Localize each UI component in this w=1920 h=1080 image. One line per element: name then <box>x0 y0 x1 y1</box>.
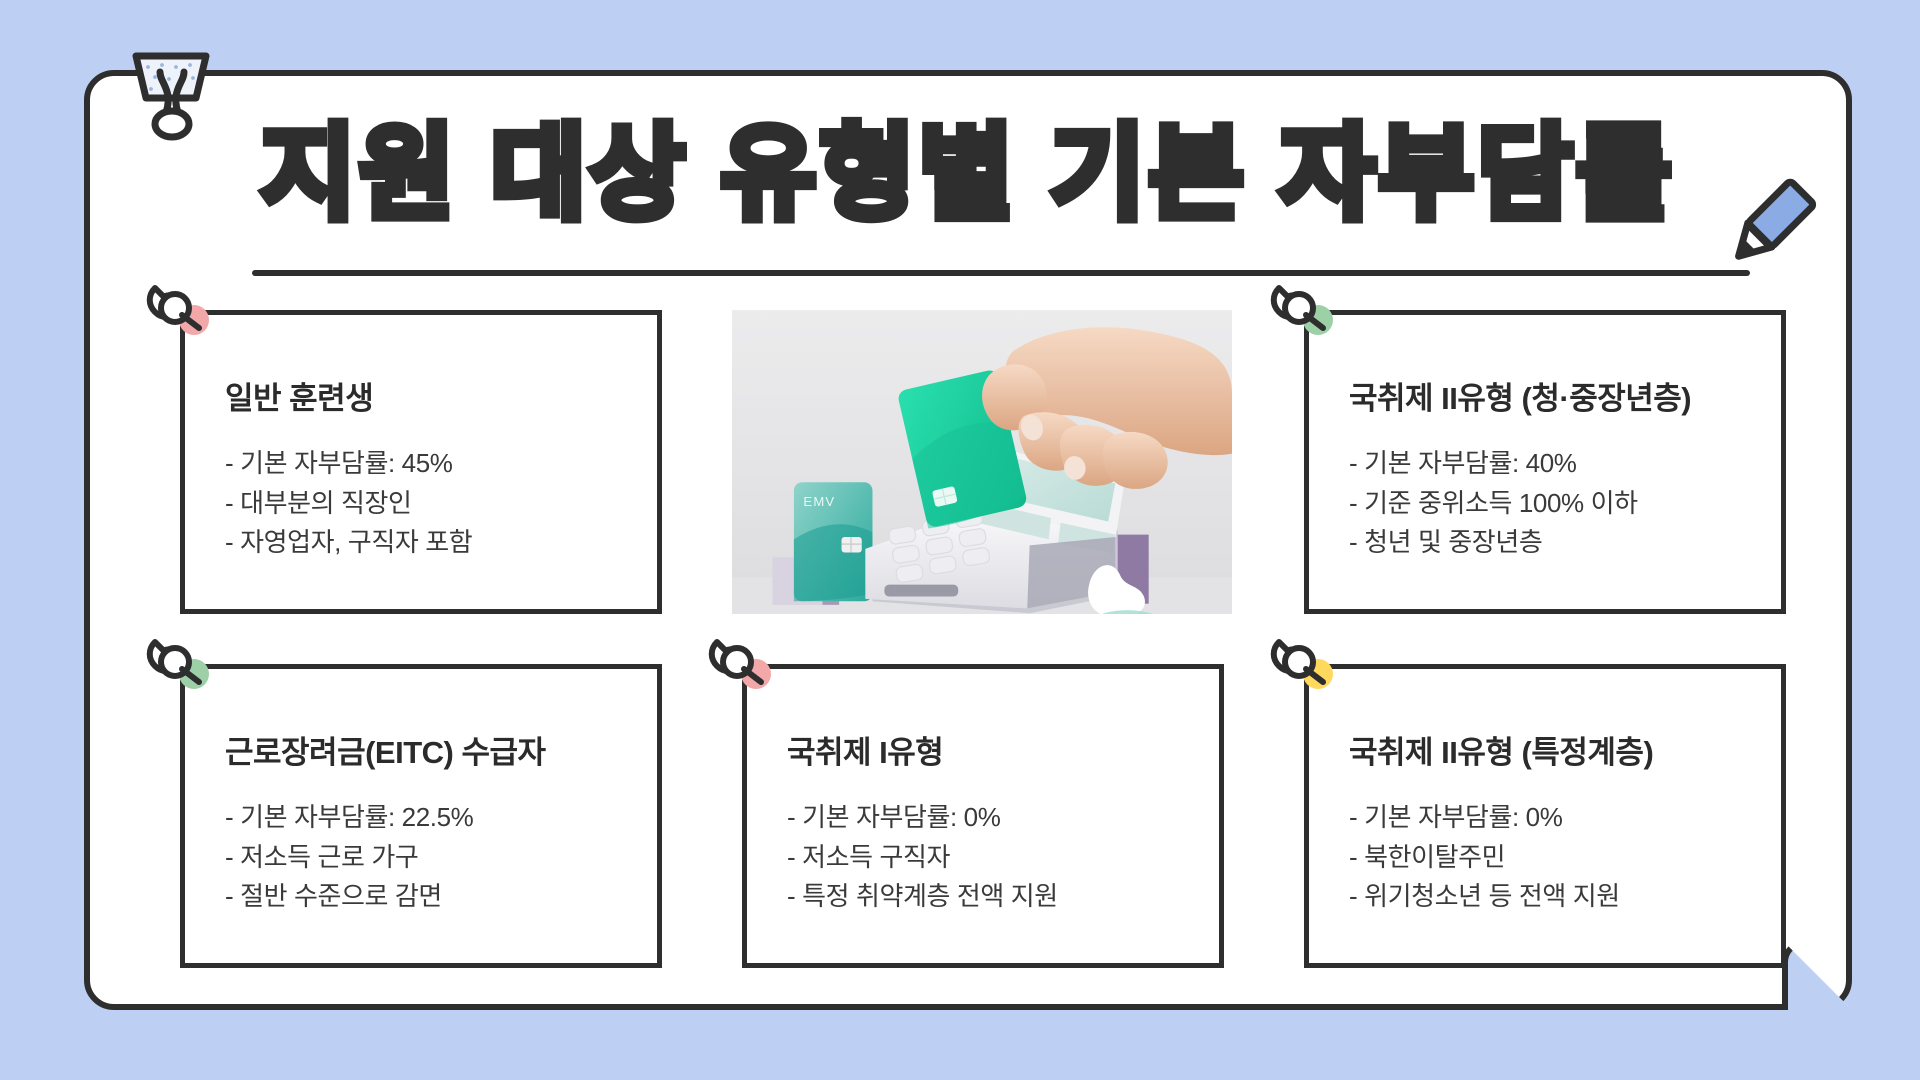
card-bullets: - 기본 자부담률: 40% - 기준 중위소득 100% 이하 - 청년 및 … <box>1349 444 1755 563</box>
page-title: 지원 대상 유형별 기본 자부담률 <box>90 120 1846 228</box>
card-kstart-type2-youth-middle[interactable]: 국취제 II유형 (청·중장년층) - 기본 자부담률: 40% - 기준 중위… <box>1304 310 1786 614</box>
bullet-item: - 기본 자부담률: 40% <box>1349 444 1755 484</box>
bullet-item: - 북한이탈주민 <box>1349 838 1755 878</box>
bullet-item: - 위기청소년 등 전액 지원 <box>1349 877 1755 917</box>
card-title: 근로장려금(EITC) 수급자 <box>225 727 631 772</box>
bullet-item: - 기본 자부담률: 45% <box>225 444 631 484</box>
page-title-wrap: 지원 대상 유형별 기본 자부담률 <box>90 120 1846 228</box>
bullet-item: - 기본 자부담률: 0% <box>1349 798 1755 838</box>
bullet-item: - 기본 자부담률: 22.5% <box>225 798 631 838</box>
card-title: 국취제 I유형 <box>787 727 1193 772</box>
cell-photo: EMV <box>724 288 1224 614</box>
card-title: 일반 훈련생 <box>225 373 631 418</box>
push-pin-icon <box>704 624 788 708</box>
bullet-item: - 저소득 근로 가구 <box>225 838 631 878</box>
bullet-item: - 대부분의 직장인 <box>225 484 631 524</box>
svg-text:EMV: EMV <box>803 494 835 509</box>
card-title: 국취제 II유형 (청·중장년층) <box>1349 373 1755 418</box>
push-pin-icon <box>1266 624 1350 708</box>
bullet-item: - 절반 수준으로 감면 <box>225 877 631 917</box>
bullet-item: - 청년 및 중장년층 <box>1349 523 1755 563</box>
bullet-item: - 기준 중위소득 100% 이하 <box>1349 484 1755 524</box>
card-kstart-type1[interactable]: 국취제 I유형 - 기본 자부담률: 0% - 저소득 구직자 - 특정 취약계… <box>742 664 1224 968</box>
cell-eitc-recipient: 근로장려금(EITC) 수급자 - 기본 자부담률: 22.5% - 저소득 근… <box>162 642 662 968</box>
cards-grid: 일반 훈련생 - 기본 자부담률: 45% - 대부분의 직장인 - 자영업자,… <box>162 288 1786 968</box>
cell-kstart-type2-youth-middle: 국취제 II유형 (청·중장년층) - 기본 자부담률: 40% - 기준 중위… <box>1286 288 1786 614</box>
page-fold-corner <box>1787 945 1849 1007</box>
card-bullets: - 기본 자부담률: 0% - 저소득 구직자 - 특정 취약계층 전액 지원 <box>787 798 1193 917</box>
card-payment-terminal-photo: EMV <box>732 310 1232 614</box>
push-pin-icon <box>142 624 226 708</box>
cell-kstart-type1: 국취제 I유형 - 기본 자부담률: 0% - 저소득 구직자 - 특정 취약계… <box>724 642 1224 968</box>
card-eitc-recipient[interactable]: 근로장려금(EITC) 수급자 - 기본 자부담률: 22.5% - 저소득 근… <box>180 664 662 968</box>
cell-kstart-type2-special: 국취제 II유형 (특정계층) - 기본 자부담률: 0% - 북한이탈주민 -… <box>1286 642 1786 968</box>
card-bullets: - 기본 자부담률: 0% - 북한이탈주민 - 위기청소년 등 전액 지원 <box>1349 798 1755 917</box>
card-bullets: - 기본 자부담률: 45% - 대부분의 직장인 - 자영업자, 구직자 포함 <box>225 444 631 563</box>
title-underline <box>252 270 1750 276</box>
bullet-item: - 기본 자부담률: 0% <box>787 798 1193 838</box>
bullet-item: - 자영업자, 구직자 포함 <box>225 523 631 563</box>
card-bullets: - 기본 자부담률: 22.5% - 저소득 근로 가구 - 절반 수준으로 감… <box>225 798 631 917</box>
card-title: 국취제 II유형 (특정계층) <box>1349 727 1755 772</box>
cell-general-trainee: 일반 훈련생 - 기본 자부담률: 45% - 대부분의 직장인 - 자영업자,… <box>162 288 662 614</box>
paper-sheet: 지원 대상 유형별 기본 자부담률 일반 훈련생 - 기본 자부담률: 45% … <box>84 70 1852 1010</box>
card-general-trainee[interactable]: 일반 훈련생 - 기본 자부담률: 45% - 대부분의 직장인 - 자영업자,… <box>180 310 662 614</box>
bullet-item: - 저소득 구직자 <box>787 838 1193 878</box>
bullet-item: - 특정 취약계층 전액 지원 <box>787 877 1193 917</box>
card-kstart-type2-special[interactable]: 국취제 II유형 (특정계층) - 기본 자부담률: 0% - 북한이탈주민 -… <box>1304 664 1786 968</box>
push-pin-icon <box>1266 270 1350 354</box>
push-pin-icon <box>142 270 226 354</box>
